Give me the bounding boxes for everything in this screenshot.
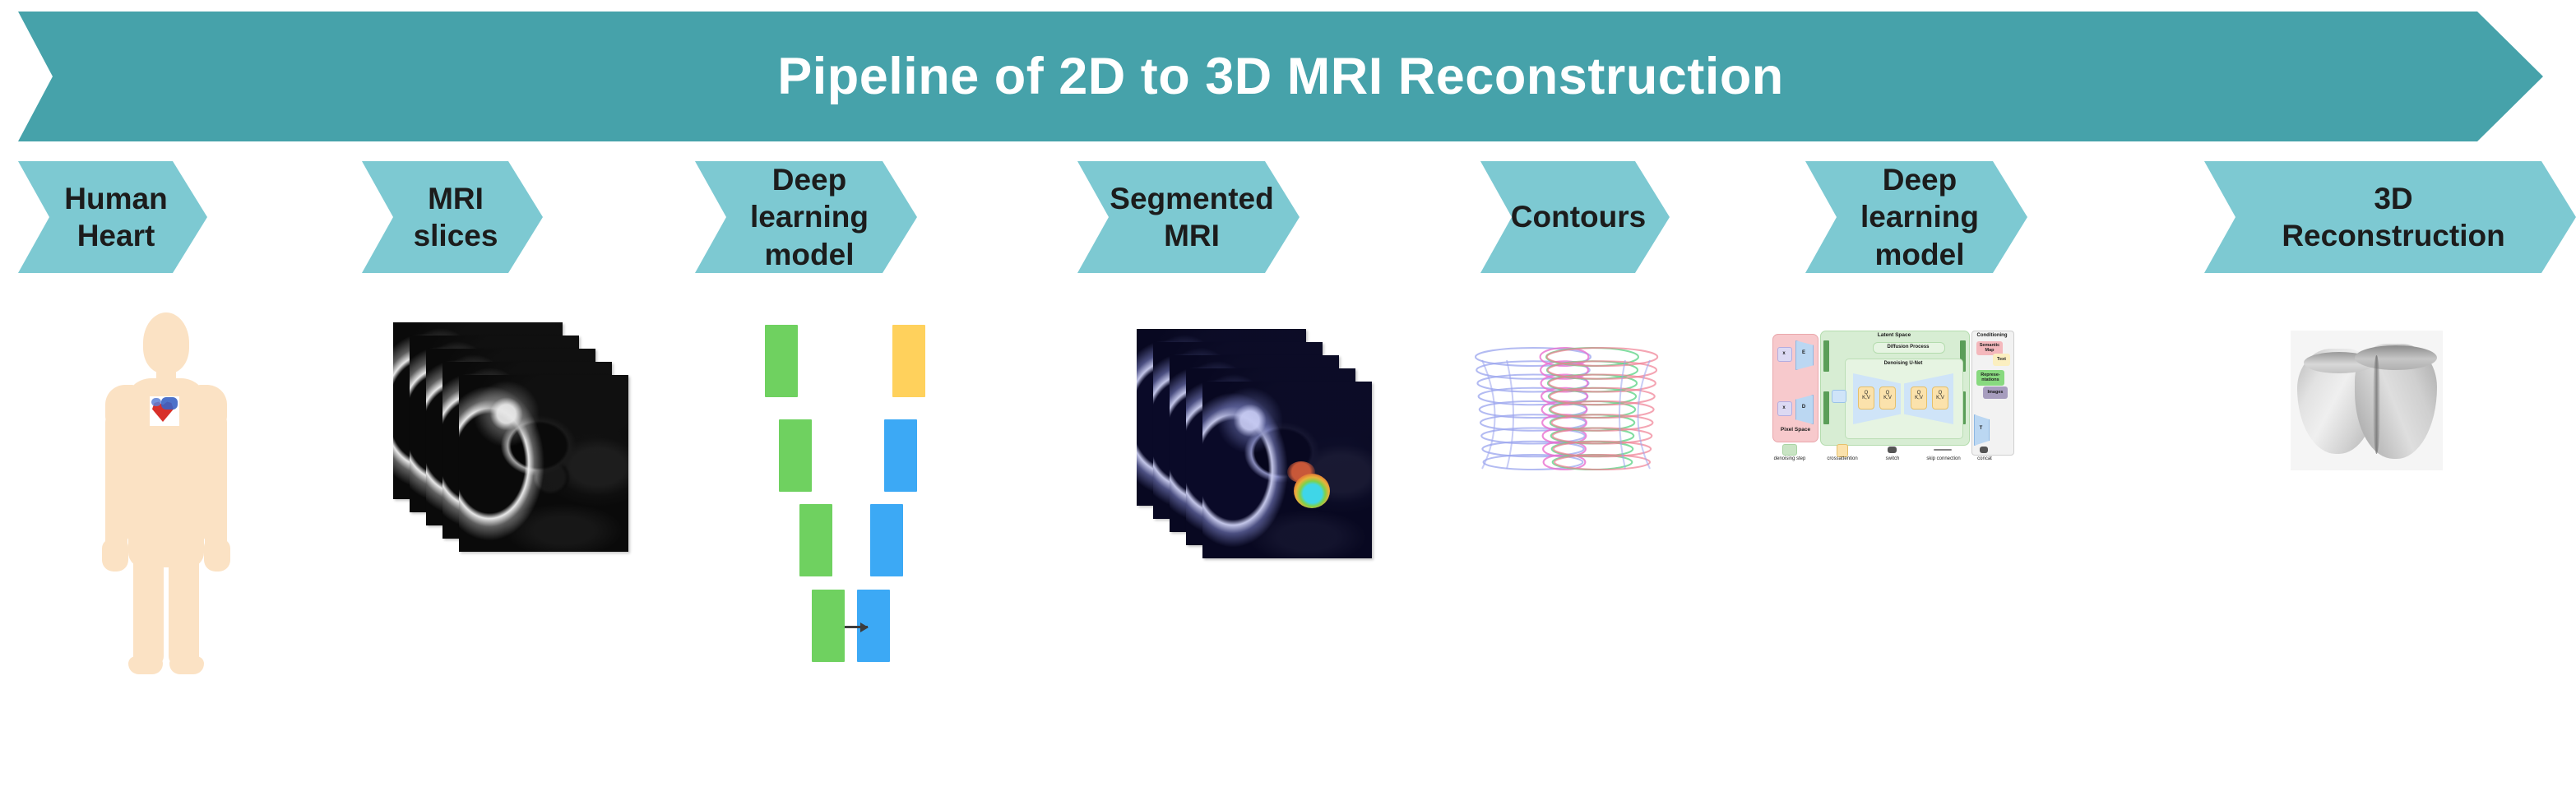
encoder-block <box>799 504 832 576</box>
encoder-trapezoid <box>1795 340 1814 370</box>
legend-label: switch <box>1869 456 1916 461</box>
legend-label: skip connection <box>1919 456 1968 461</box>
human-body-silhouette-icon <box>92 312 240 674</box>
mri-slice-stack-icon <box>393 322 640 569</box>
legend-label: crossattention <box>1817 456 1868 461</box>
contour-wireframe-icon <box>1472 336 1661 479</box>
ldm-legend: denoising step crossattention switch ski… <box>1772 444 2019 465</box>
pipeline-steps: HumanHeart MRIslices Deep learningmodel … <box>0 161 2576 276</box>
conditioning-item-text: Text <box>1993 354 2010 366</box>
latent-bar <box>1823 340 1829 372</box>
mri-slice <box>459 375 628 552</box>
pipeline-figure: Pipeline of 2D to 3D MRI Reconstruction … <box>0 0 2576 796</box>
encoder-symbol-label: E <box>1795 350 1812 355</box>
denoising-unet-label: Denoising U-Net <box>1845 361 1962 366</box>
tau-symbol-label: T <box>1974 426 1988 431</box>
switch-icon <box>1888 447 1897 453</box>
diffusion-process-label: Diffusion Process <box>1873 345 1944 349</box>
cross-attention-block: QK,V <box>1858 386 1874 410</box>
segmented-mri-slice <box>1202 382 1372 558</box>
step-label: Contours <box>1490 198 1661 235</box>
step-deep-learning-1[interactable]: Deep learningmodel <box>695 161 917 273</box>
step-label: SegmentedMRI <box>1088 180 1288 254</box>
segmentation-mask <box>1294 474 1330 508</box>
skip-connection-icon <box>1934 449 1952 451</box>
step-contours[interactable]: Contours <box>1480 161 1670 273</box>
step-human-heart[interactable]: HumanHeart <box>18 161 207 273</box>
encoder-block <box>812 590 845 662</box>
cross-attention-block: QK,V <box>1932 386 1948 410</box>
input-symbol-label: x <box>1777 351 1791 356</box>
step-deep-learning-2[interactable]: Deep learningmodel <box>1805 161 2027 273</box>
decoder-symbol-label: D <box>1795 405 1812 410</box>
latent-space-label: Latent Space <box>1820 333 1968 339</box>
step-mri-slices[interactable]: MRIslices <box>362 161 543 273</box>
3d-heart-mesh-icon <box>2291 331 2443 470</box>
bottleneck-block <box>892 325 925 397</box>
step-label: Deep learningmodel <box>695 161 917 272</box>
contour-rings <box>1472 336 1661 479</box>
cross-attention-block: QK,V <box>1911 386 1927 410</box>
conditioning-item-images: Images <box>1983 386 2008 399</box>
step-segmented-mri[interactable]: SegmentedMRI <box>1077 161 1300 273</box>
step-label: MRIslices <box>392 180 513 254</box>
pixel-space-label: Pixel Space <box>1774 428 1817 433</box>
conditioning-label: Conditioning <box>1971 333 2013 338</box>
denoising-step-icon <box>1782 444 1797 456</box>
crossattention-icon <box>1837 444 1848 457</box>
cross-attention-block: QK,V <box>1879 386 1896 410</box>
pipeline-content: x E x D Pixel Space Latent Space Diffusi… <box>0 296 2576 757</box>
legend-label: concat <box>1963 456 2006 461</box>
skip-connection-arrow-icon <box>845 626 868 628</box>
output-symbol-label: x <box>1777 405 1791 410</box>
page-title: Pipeline of 2D to 3D MRI Reconstruction <box>777 51 1784 103</box>
unet-block-diagram-icon <box>765 325 929 563</box>
legend-label: denoising step <box>1764 456 1815 461</box>
step-label: 3DReconstruction <box>2260 180 2519 254</box>
heart-icon <box>150 396 179 426</box>
conditioning-item-representations: Represe-ntations <box>1976 370 2004 386</box>
step-3d-reconstruction[interactable]: 3DReconstruction <box>2204 161 2576 273</box>
decoder-block <box>870 504 903 576</box>
step-label: HumanHeart <box>43 180 182 254</box>
latent-diffusion-architecture-icon: x E x D Pixel Space Latent Space Diffusi… <box>1772 329 2019 465</box>
decoder-block <box>884 419 917 492</box>
encoder-block <box>765 325 798 397</box>
decoder-trapezoid <box>1795 395 1814 424</box>
latent-bar <box>1823 391 1829 424</box>
step-label: Deep learningmodel <box>1805 161 2027 272</box>
encoder-block <box>779 419 812 492</box>
pipeline-banner: Pipeline of 2D to 3D MRI Reconstruction <box>18 12 2543 141</box>
segmented-mri-stack-icon <box>1137 329 1383 576</box>
concat-icon <box>1980 447 1988 453</box>
switch-symbol <box>1832 390 1846 403</box>
